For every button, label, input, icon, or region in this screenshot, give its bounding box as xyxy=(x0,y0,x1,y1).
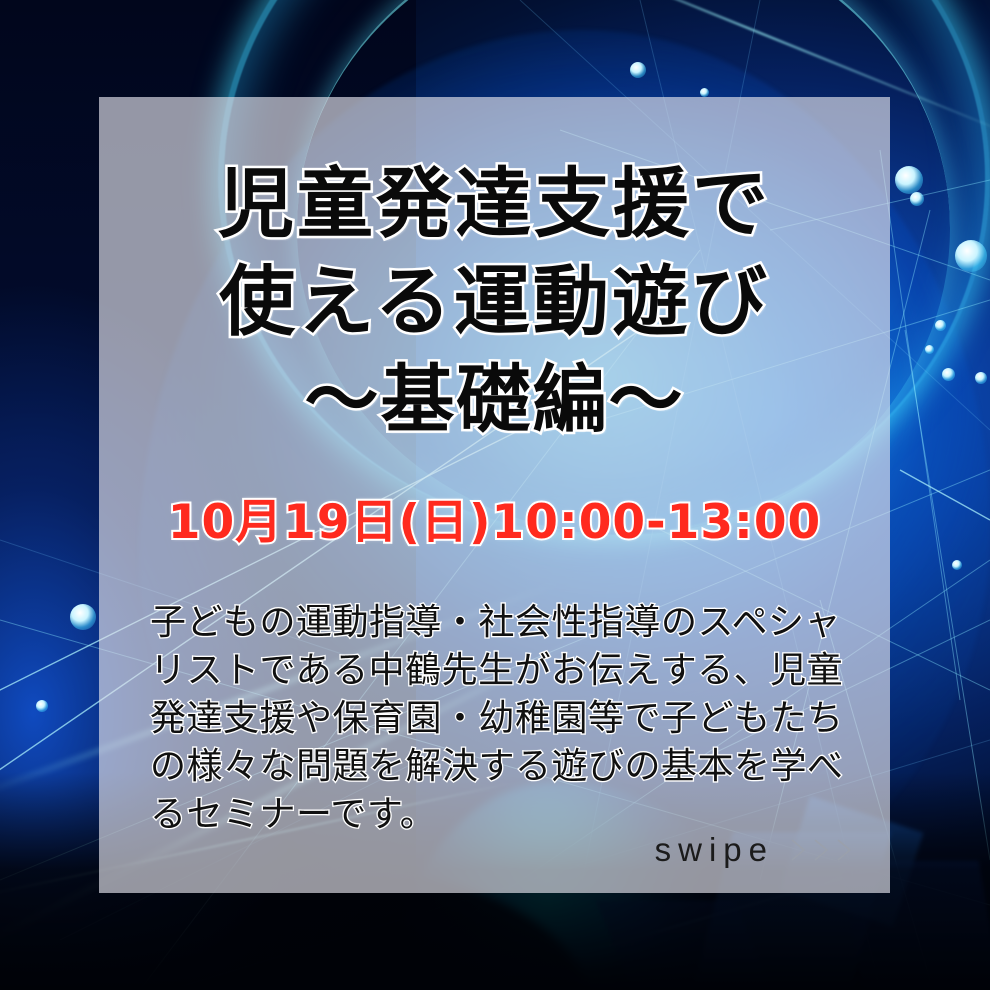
chevron-right-icon xyxy=(834,835,856,865)
description-block: 子どもの運動指導・社会性指導のスペシャ リストである中鶴先生がお伝えする、児童 … xyxy=(150,599,850,839)
event-date-time: 10月19日(日)10:00-13:00 xyxy=(99,494,890,552)
network-node xyxy=(910,192,924,206)
chevron-right-icon xyxy=(788,835,810,865)
title-line-1: 児童発達支援で xyxy=(99,155,890,253)
chevron-right-icon xyxy=(811,835,833,865)
network-node xyxy=(935,320,946,331)
network-node xyxy=(70,604,96,630)
network-node xyxy=(955,240,987,272)
description-line: 発達支援や保育園・幼稚園等で子どもたち xyxy=(150,695,850,743)
network-node xyxy=(700,88,709,97)
content-panel: 児童発達支援で 使える運動遊び 〜基礎編〜 10月19日(日)10:00-13:… xyxy=(99,97,890,893)
network-node xyxy=(36,700,48,712)
title-block: 児童発達支援で 使える運動遊び 〜基礎編〜 xyxy=(99,155,890,449)
network-node xyxy=(952,560,962,570)
network-node xyxy=(895,166,923,194)
poster-canvas: 児童発達支援で 使える運動遊び 〜基礎編〜 10月19日(日)10:00-13:… xyxy=(0,0,990,990)
network-node xyxy=(975,372,987,384)
swipe-label: swipe xyxy=(655,831,774,869)
swipe-hint[interactable]: swipe xyxy=(655,831,856,869)
chevron-group xyxy=(788,835,856,865)
title-line-2: 使える運動遊び xyxy=(99,253,890,351)
network-node xyxy=(942,368,955,381)
description-line: の様々な問題を解決する遊びの基本を学べ xyxy=(150,743,850,791)
description-line: リストである中鶴先生がお伝えする、児童 xyxy=(150,647,850,695)
title-line-3: 〜基礎編〜 xyxy=(99,351,890,449)
network-node xyxy=(925,345,934,354)
network-node xyxy=(630,62,646,78)
description-line: 子どもの運動指導・社会性指導のスペシャ xyxy=(150,599,850,647)
